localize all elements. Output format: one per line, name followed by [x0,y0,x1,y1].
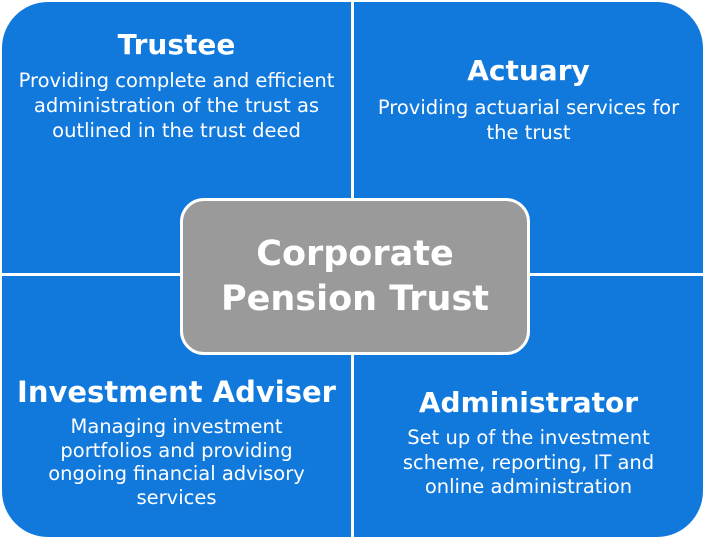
quadrant-actuary-description: Providing actuarial services for the tru… [355,95,703,145]
center-hub-title: Corporate Pension Trust [221,232,489,322]
quadrant-actuary-title: Actuary [467,54,590,88]
quadrant-investment-adviser-description: Managing investment portfolios and provi… [22,415,332,509]
quadrant-trustee-description: Providing complete and efficient adminis… [5,68,349,143]
quadrant-administrator-title: Administrator [419,386,638,420]
center-hub[interactable]: Corporate Pension Trust [180,198,530,355]
quadrant-trustee-title: Trustee [118,28,236,62]
four-quadrant-diagram: Trustee Providing complete and efficient… [0,0,705,550]
quadrant-investment-adviser-title: Investment Adviser [17,375,336,409]
quadrant-administrator-description: Set up of the investment scheme, reporti… [383,426,675,500]
